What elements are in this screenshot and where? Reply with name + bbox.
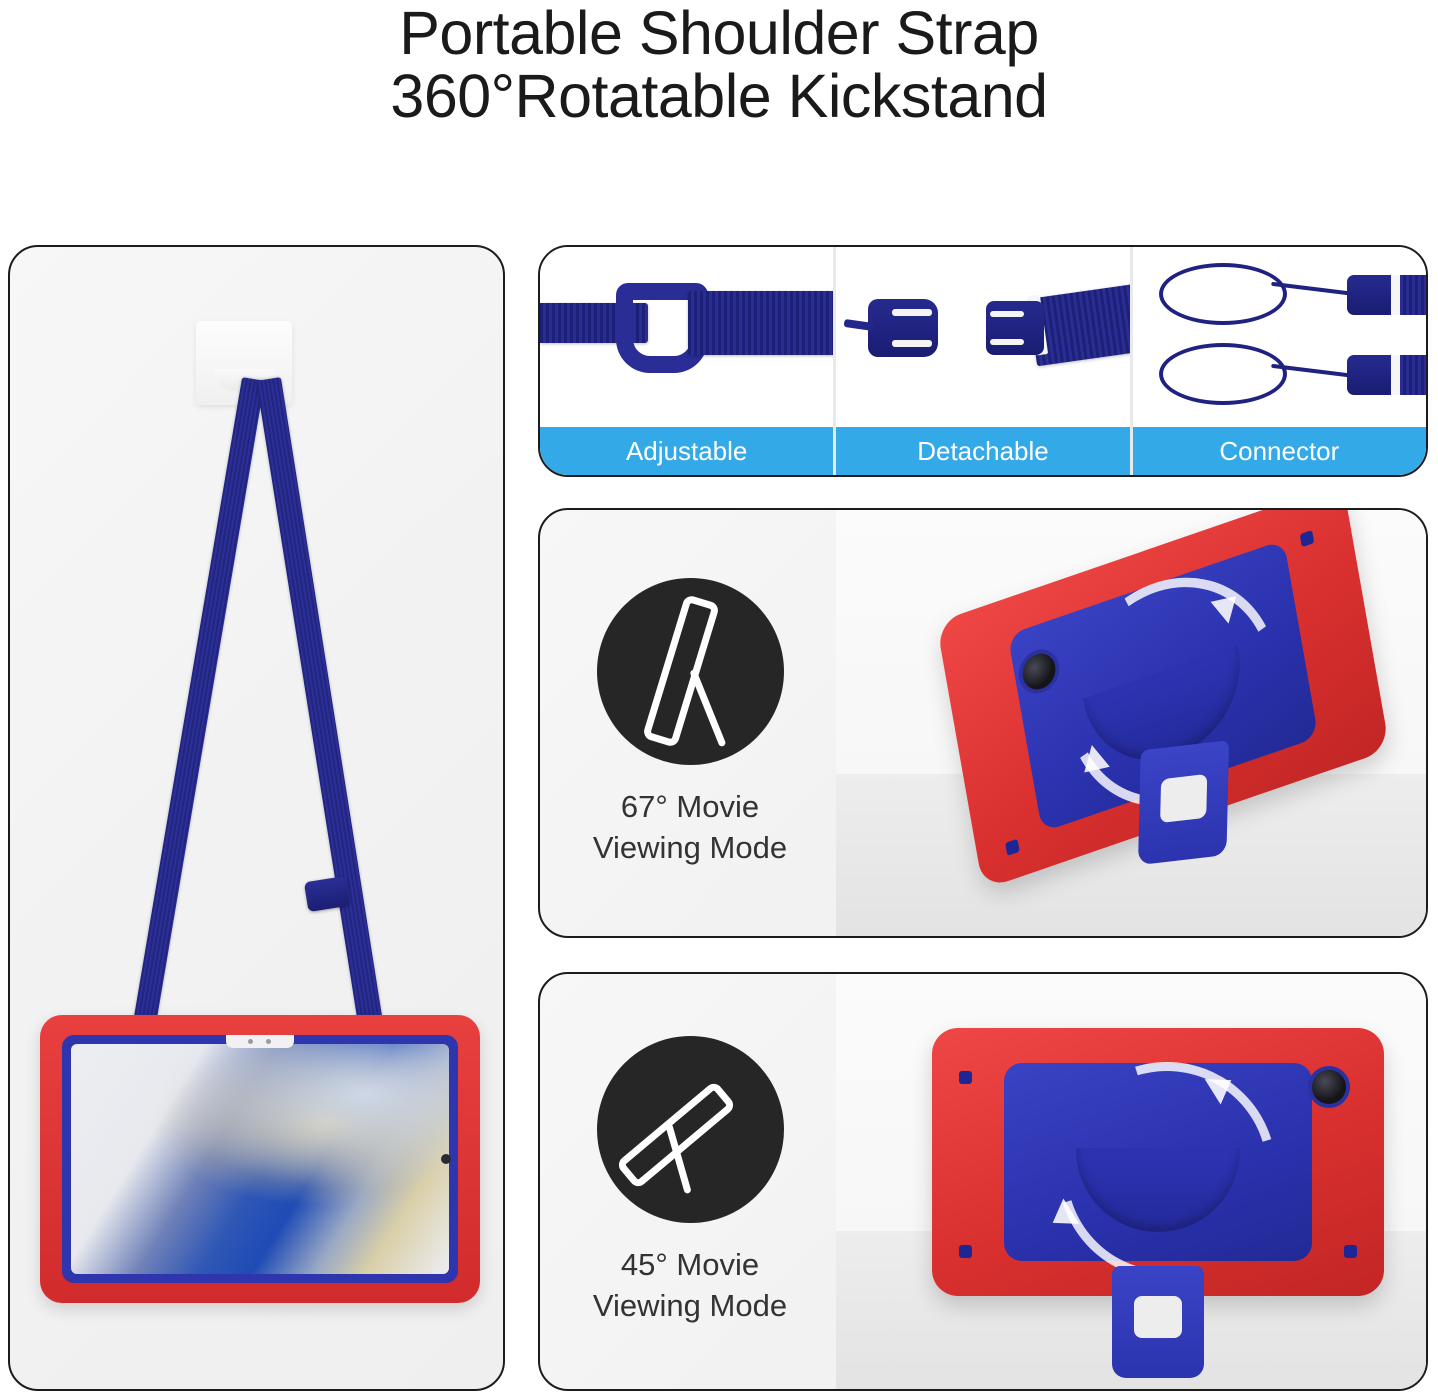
feature-label-adjustable: Adjustable — [540, 427, 833, 475]
front-camera-notch — [226, 1035, 294, 1048]
mode-card-67: 67° Movie Viewing Mode — [538, 508, 1428, 938]
detachable-illustration — [836, 247, 1129, 427]
buckle-female-icon — [868, 299, 938, 357]
kickstand-leg — [1138, 740, 1229, 865]
feature-adjustable: Adjustable — [540, 247, 833, 475]
tablet-shallow-kickstand-icon — [597, 1036, 784, 1223]
side-camera-icon — [441, 1154, 451, 1164]
strap-band — [688, 291, 833, 355]
tablet-steep-kickstand-icon — [597, 578, 784, 765]
mode-45-line2: Viewing Mode — [593, 1286, 787, 1327]
connector-marker-bottom — [1391, 355, 1400, 395]
mode-67-photo — [836, 510, 1426, 936]
title-line-1: Portable Shoulder Strap — [399, 0, 1039, 67]
mode-67-line2: Viewing Mode — [593, 828, 787, 869]
feature-label-connector: Connector — [1133, 427, 1426, 475]
connector-illustration — [1133, 247, 1426, 427]
shoulder-strap-photo-card — [8, 245, 505, 1391]
mode-45-line1: 45° Movie — [593, 1245, 787, 1286]
corner-pin-3 — [1344, 1245, 1357, 1258]
tablet-screen-wallpaper — [71, 1044, 449, 1274]
connector-loop-bottom — [1159, 343, 1287, 405]
buckle-male-icon — [986, 301, 1044, 355]
tablet-case-back-flat — [932, 1028, 1384, 1296]
mode-45-info: 45° Movie Viewing Mode — [540, 974, 840, 1389]
case-inner-bezel — [62, 1035, 458, 1283]
feature-label-detachable: Detachable — [836, 427, 1129, 475]
mode-card-45: 45° Movie Viewing Mode — [538, 972, 1428, 1391]
kickstand-leg — [689, 668, 726, 747]
mode-67-line1: 67° Movie — [593, 787, 787, 828]
tablet-in-case-front — [40, 1015, 480, 1303]
page-title: Portable Shoulder Strap 360°Rotatable Ki… — [0, 2, 1438, 128]
rotating-blue-plate — [1004, 1063, 1311, 1261]
mode-67-info: 67° Movie Viewing Mode — [540, 510, 840, 936]
mode-45-photo — [836, 974, 1426, 1389]
connector-loop-top — [1159, 263, 1287, 325]
strap-features-card: Adjustable Detachable — [538, 245, 1428, 477]
adjustable-illustration — [540, 247, 833, 427]
feature-detachable: Detachable — [833, 247, 1129, 475]
connector-marker-top — [1391, 275, 1400, 315]
kickstand-leg — [1112, 1266, 1204, 1378]
corner-pin-1 — [959, 1071, 972, 1084]
camera-lens-icon — [1308, 1066, 1350, 1108]
title-line-2: 360°Rotatable Kickstand — [0, 65, 1438, 128]
mode-67-caption: 67° Movie Viewing Mode — [593, 787, 787, 869]
corner-pin-2 — [959, 1245, 972, 1258]
mode-45-caption: 45° Movie Viewing Mode — [593, 1245, 787, 1327]
tablet-outline — [641, 594, 719, 748]
feature-connector: Connector — [1130, 247, 1426, 475]
